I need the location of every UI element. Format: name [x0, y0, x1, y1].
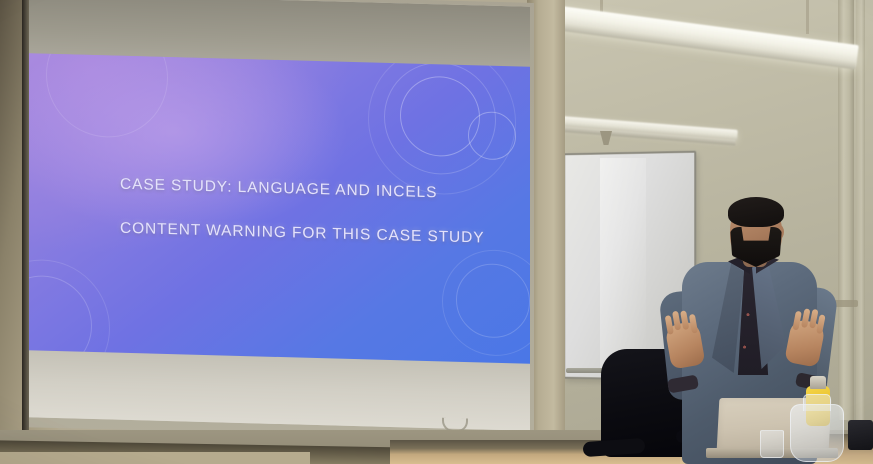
slide-text-block: CASE STUDY: LANGUAGE AND INCELS CONTENT …	[28, 53, 530, 365]
desk-device	[848, 420, 873, 450]
light-stem-right	[806, 0, 809, 34]
screen-left-edge	[22, 0, 29, 434]
slide-heading-line: CASE STUDY: LANGUAGE AND INCELS	[120, 176, 437, 203]
wall-pipe-secondary	[856, 0, 865, 420]
lecture-room-photo: CASE STUDY: LANGUAGE AND INCELS CONTENT …	[0, 0, 873, 464]
slide-warning-line: CONTENT WARNING FOR THIS CASE STUDY	[120, 220, 485, 248]
drinking-glass	[760, 430, 784, 458]
projector-screen-surface: CASE STUDY: LANGUAGE AND INCELS CONTENT …	[28, 0, 530, 431]
bottle-cap	[810, 376, 826, 389]
water-jug	[790, 404, 844, 462]
desk-front-panel	[0, 452, 310, 464]
presenter-hair	[728, 197, 784, 227]
presentation-slide: CASE STUDY: LANGUAGE AND INCELS CONTENT …	[28, 53, 530, 365]
